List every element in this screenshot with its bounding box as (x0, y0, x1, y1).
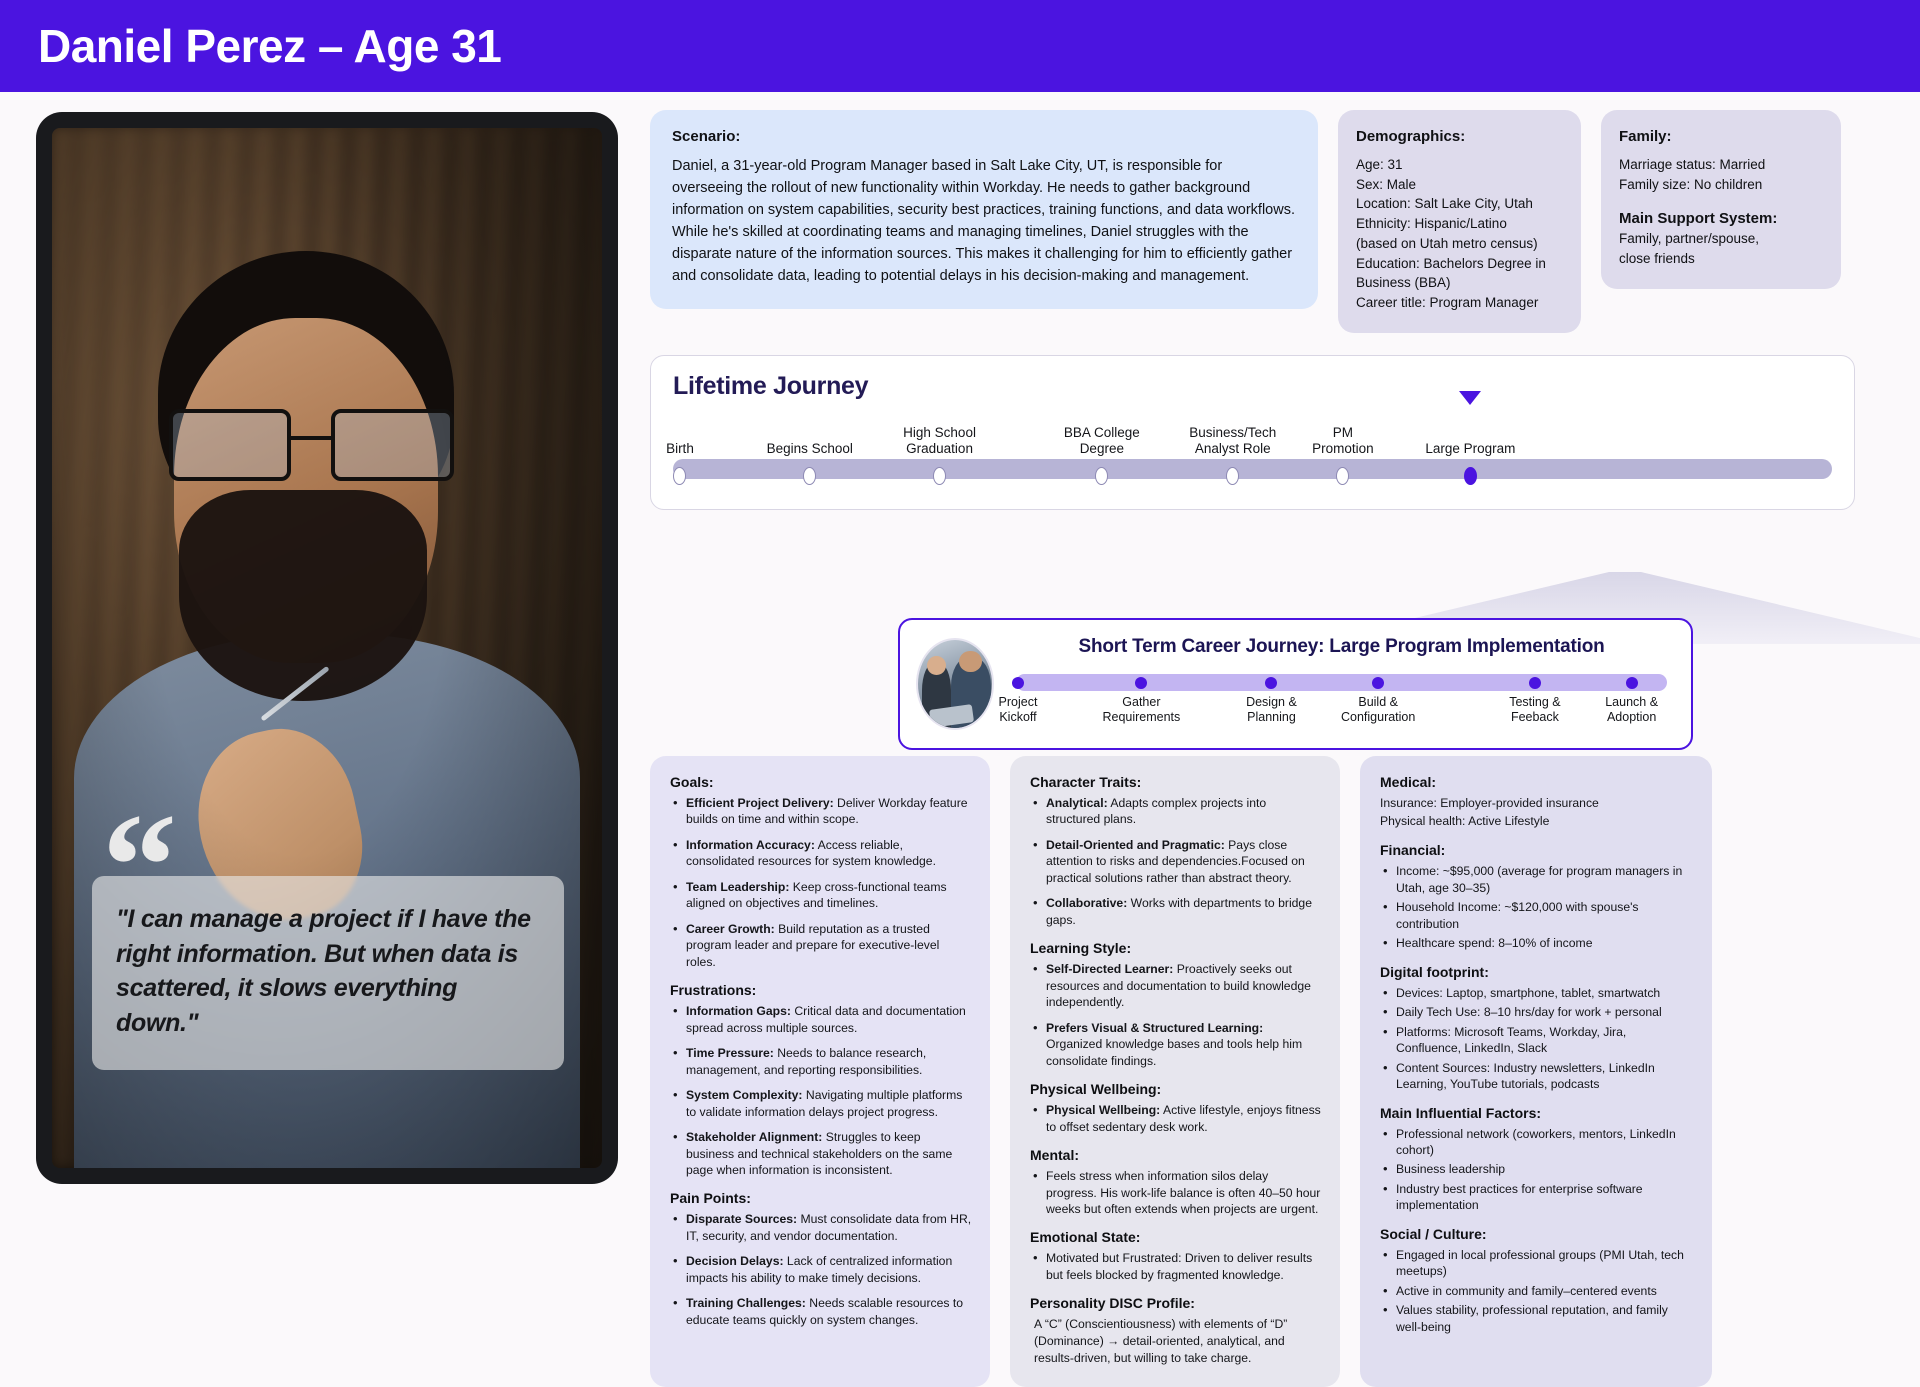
short-term-journey-step[interactable]: Launch &Adoption (1572, 668, 1692, 725)
short-term-journey-dot[interactable] (1372, 677, 1384, 689)
lifetime-journey-title: Lifetime Journey (673, 372, 1832, 401)
physical-wellbeing-list: Physical Wellbeing: Active lifestyle, en… (1030, 1102, 1322, 1135)
demographics-line: Business (BBA) (1356, 273, 1565, 293)
short-term-journey-body: Short Term Career Journey: Large Program… (1008, 632, 1675, 734)
pain-points-title: Pain Points: (670, 1190, 972, 1206)
short-term-journey-step-label: Build &Configuration (1318, 695, 1438, 725)
family-title: Family: (1619, 128, 1825, 145)
lifetime-journey-node-label: BBA CollegeDegree (1037, 425, 1167, 458)
top-info-row: Scenario: Daniel, a 31-year-old Program … (650, 110, 1894, 333)
page-title: Daniel Perez – Age 31 (38, 19, 501, 73)
lifetime-journey-dot[interactable] (933, 467, 946, 485)
lifetime-journey-node-label: Birth (615, 441, 745, 457)
mental-title: Mental: (1030, 1147, 1322, 1163)
medical-line: Physical health: Active Lifestyle (1380, 813, 1694, 831)
short-term-journey-step-label: Design &Planning (1211, 695, 1331, 725)
trait-item: Analytical: Adapts complex projects into… (1030, 795, 1322, 828)
family-line: Marriage status: Married (1619, 155, 1825, 175)
learning-style-item: Self-Directed Learner: Proactively seeks… (1030, 961, 1322, 1010)
family-card: Family: Marriage status: Married Family … (1601, 110, 1841, 289)
trait-item: Collaborative: Works with departments to… (1030, 895, 1322, 928)
financial-item: Income: ~$95,000 (average for program ma… (1380, 863, 1694, 896)
demographics-line: Age: 31 (1356, 155, 1565, 175)
goal-item: Career Growth: Build reputation as a tru… (670, 921, 972, 970)
persona-sheet: “ "I can manage a project if I have the … (0, 92, 1920, 1243)
influential-factors-list: Professional network (coworkers, mentors… (1380, 1126, 1694, 1214)
support-system-line: close friends (1619, 249, 1825, 269)
goals-list: Efficient Project Delivery: Deliver Work… (670, 795, 972, 970)
lifetime-journey-node[interactable]: Large Program (1405, 441, 1535, 484)
short-term-journey-step-label: GatherRequirements (1081, 695, 1201, 725)
goal-item: Information Accuracy: Access reliable, c… (670, 837, 972, 870)
lifetime-journey-active-dot[interactable] (1464, 467, 1477, 485)
demographics-line: Education: Bachelors Degree in (1356, 254, 1565, 274)
emotional-state-title: Emotional State: (1030, 1229, 1322, 1245)
lifetime-journey-dot[interactable] (1226, 467, 1239, 485)
short-term-journey-dot[interactable] (1529, 677, 1541, 689)
character-traits-title: Character Traits: (1030, 774, 1322, 790)
family-lines: Marriage status: Married Family size: No… (1619, 155, 1825, 194)
physical-wellbeing-title: Physical Wellbeing: (1030, 1081, 1322, 1097)
lifetime-journey-node[interactable]: BBA CollegeDegree (1037, 425, 1167, 485)
page-header: Daniel Perez – Age 31 (0, 0, 1920, 92)
disc-profile-title: Personality DISC Profile: (1030, 1295, 1322, 1311)
goals-column: Goals: Efficient Project Delivery: Deliv… (650, 756, 990, 1387)
support-system-title: Main Support System: (1619, 210, 1825, 227)
persona-photo: “ "I can manage a project if I have the … (52, 128, 602, 1168)
financial-list: Income: ~$95,000 (average for program ma… (1380, 863, 1694, 951)
demographics-lines: Age: 31 Sex: Male Location: Salt Lake Ci… (1356, 155, 1565, 313)
demographics-card: Demographics: Age: 31 Sex: Male Location… (1338, 110, 1581, 333)
lifetime-journey-node[interactable]: High SchoolGraduation (875, 425, 1005, 485)
medical-title: Medical: (1380, 774, 1694, 790)
short-term-journey-track[interactable]: ProjectKickoffGatherRequirementsDesign &… (1008, 668, 1675, 734)
short-term-journey-step[interactable]: Design &Planning (1211, 668, 1331, 725)
persona-quote: "I can manage a project if I have the ri… (116, 902, 540, 1040)
pain-points-list: Disparate Sources: Must consolidate data… (670, 1211, 972, 1328)
social-culture-item: Active in community and family–centered … (1380, 1283, 1694, 1299)
goals-title: Goals: (670, 774, 972, 790)
demographics-line: (based on Utah metro census) (1356, 234, 1565, 254)
medical-line: Insurance: Employer-provided insurance (1380, 795, 1694, 813)
short-term-journey-step-label: Launch &Adoption (1572, 695, 1692, 725)
digital-footprint-item: Devices: Laptop, smartphone, tablet, sma… (1380, 985, 1694, 1001)
physical-wellbeing-item: Physical Wellbeing: Active lifestyle, en… (1030, 1102, 1322, 1135)
social-culture-list: Engaged in local professional groups (PM… (1380, 1247, 1694, 1335)
frustration-item: Stakeholder Alignment: Struggles to keep… (670, 1129, 972, 1178)
social-culture-item: Engaged in local professional groups (PM… (1380, 1247, 1694, 1280)
lifetime-journey-node[interactable]: Begins School (745, 441, 875, 484)
lifetime-journey-node[interactable]: Birth (615, 441, 745, 484)
short-term-journey-title: Short Term Career Journey: Large Program… (1008, 636, 1675, 658)
family-line: Family size: No children (1619, 175, 1825, 195)
goal-item: Efficient Project Delivery: Deliver Work… (670, 795, 972, 828)
medical-lines: Insurance: Employer-provided insurance P… (1380, 795, 1694, 830)
emotional-state-item: Motivated but Frustrated: Driven to deli… (1030, 1250, 1322, 1283)
short-term-journey-step[interactable]: ProjectKickoff (958, 668, 1078, 725)
frustration-item: Time Pressure: Needs to balance research… (670, 1045, 972, 1078)
short-term-journey-dot[interactable] (1012, 677, 1024, 689)
short-term-journey-step-label: ProjectKickoff (958, 695, 1078, 725)
influential-factor-item: Business leadership (1380, 1161, 1694, 1177)
content-area: Scenario: Daniel, a 31-year-old Program … (650, 110, 1894, 510)
lifetime-journey-node-label: PMPromotion (1278, 425, 1408, 458)
short-term-journey-dot[interactable] (1626, 677, 1638, 689)
persona-quote-card: "I can manage a project if I have the ri… (92, 876, 564, 1070)
financial-item: Healthcare spend: 8–10% of income (1380, 935, 1694, 951)
lifetime-journey-track[interactable]: BirthBegins SchoolHigh SchoolGraduationB… (673, 407, 1832, 485)
lifetime-journey-dot[interactable] (803, 467, 816, 485)
digital-footprint-item: Platforms: Microsoft Teams, Workday, Jir… (1380, 1024, 1694, 1057)
influential-factors-title: Main Influential Factors: (1380, 1105, 1694, 1121)
short-term-journey-step[interactable]: Build &Configuration (1318, 668, 1438, 725)
social-culture-item: Values stability, professional reputatio… (1380, 1302, 1694, 1335)
goal-item: Team Leadership: Keep cross-functional t… (670, 879, 972, 912)
demographics-line: Sex: Male (1356, 175, 1565, 195)
current-stage-caret-icon (1459, 391, 1481, 405)
character-traits-list: Analytical: Adapts complex projects into… (1030, 795, 1322, 928)
demographics-line: Career title: Program Manager (1356, 293, 1565, 313)
pain-point-item: Training Challenges: Needs scalable reso… (670, 1295, 972, 1328)
scenario-text: Daniel, a 31-year-old Program Manager ba… (672, 155, 1296, 287)
lifetime-journey-dot[interactable] (673, 467, 686, 485)
influential-factor-item: Professional network (coworkers, mentors… (1380, 1126, 1694, 1159)
pain-point-item: Disparate Sources: Must consolidate data… (670, 1211, 972, 1244)
short-term-journey-step[interactable]: GatherRequirements (1081, 668, 1201, 725)
support-system-lines: Family, partner/spouse, close friends (1619, 229, 1825, 268)
influential-factor-item: Industry best practices for enterprise s… (1380, 1181, 1694, 1214)
learning-style-title: Learning Style: (1030, 940, 1322, 956)
lifetime-journey-dot[interactable] (1095, 467, 1108, 485)
pain-point-item: Decision Delays: Lack of centralized inf… (670, 1253, 972, 1286)
scenario-title: Scenario: (672, 128, 1296, 145)
persona-photo-frame: “ "I can manage a project if I have the … (36, 112, 618, 1184)
learning-style-list: Self-Directed Learner: Proactively seeks… (1030, 961, 1322, 1069)
demographics-line: Ethnicity: Hispanic/Latino (1356, 214, 1565, 234)
disc-profile-text: A “C” (Conscientiousness) with elements … (1030, 1316, 1322, 1366)
demographics-title: Demographics: (1356, 128, 1565, 145)
support-system-line: Family, partner/spouse, (1619, 229, 1825, 249)
traits-column: Character Traits: Analytical: Adapts com… (1010, 756, 1340, 1387)
frustrations-list: Information Gaps: Critical data and docu… (670, 1003, 972, 1178)
frustrations-title: Frustrations: (670, 982, 972, 998)
lifetime-journey-card: Lifetime Journey BirthBegins SchoolHigh … (650, 355, 1855, 510)
lifetime-journey-node-label: Large Program (1405, 441, 1535, 457)
lifetime-journey-node-label: High SchoolGraduation (875, 425, 1005, 458)
short-term-journey-dot[interactable] (1135, 677, 1147, 689)
digital-footprint-title: Digital footprint: (1380, 964, 1694, 980)
lifetime-journey-dot[interactable] (1336, 467, 1349, 485)
financial-item: Household Income: ~$120,000 with spouse'… (1380, 899, 1694, 932)
short-term-journey-card: Short Term Career Journey: Large Program… (898, 618, 1693, 750)
lifetime-journey-node[interactable]: PMPromotion (1278, 425, 1408, 485)
frustration-item: System Complexity: Navigating multiple p… (670, 1087, 972, 1120)
frustration-item: Information Gaps: Critical data and docu… (670, 1003, 972, 1036)
digital-footprint-list: Devices: Laptop, smartphone, tablet, sma… (1380, 985, 1694, 1093)
trait-item: Detail-Oriented and Pragmatic: Pays clos… (1030, 837, 1322, 886)
mental-list: Feels stress when information silos dela… (1030, 1168, 1322, 1217)
learning-style-item: Prefers Visual & Structured Learning: Or… (1030, 1020, 1322, 1069)
social-culture-title: Social / Culture: (1380, 1226, 1694, 1242)
short-term-journey-dot[interactable] (1265, 677, 1277, 689)
demographics-line: Location: Salt Lake City, Utah (1356, 194, 1565, 214)
digital-footprint-item: Daily Tech Use: 8–10 hrs/day for work + … (1380, 1004, 1694, 1020)
emotional-state-list: Motivated but Frustrated: Driven to deli… (1030, 1250, 1322, 1283)
detail-columns: Goals: Efficient Project Delivery: Deliv… (650, 756, 1712, 1387)
lifetime-journey-node-label: Begins School (745, 441, 875, 457)
medical-column: Medical: Insurance: Employer-provided in… (1360, 756, 1712, 1387)
scenario-card: Scenario: Daniel, a 31-year-old Program … (650, 110, 1318, 309)
digital-footprint-item: Content Sources: Industry newsletters, L… (1380, 1060, 1694, 1093)
financial-title: Financial: (1380, 842, 1694, 858)
mental-item: Feels stress when information silos dela… (1030, 1168, 1322, 1217)
